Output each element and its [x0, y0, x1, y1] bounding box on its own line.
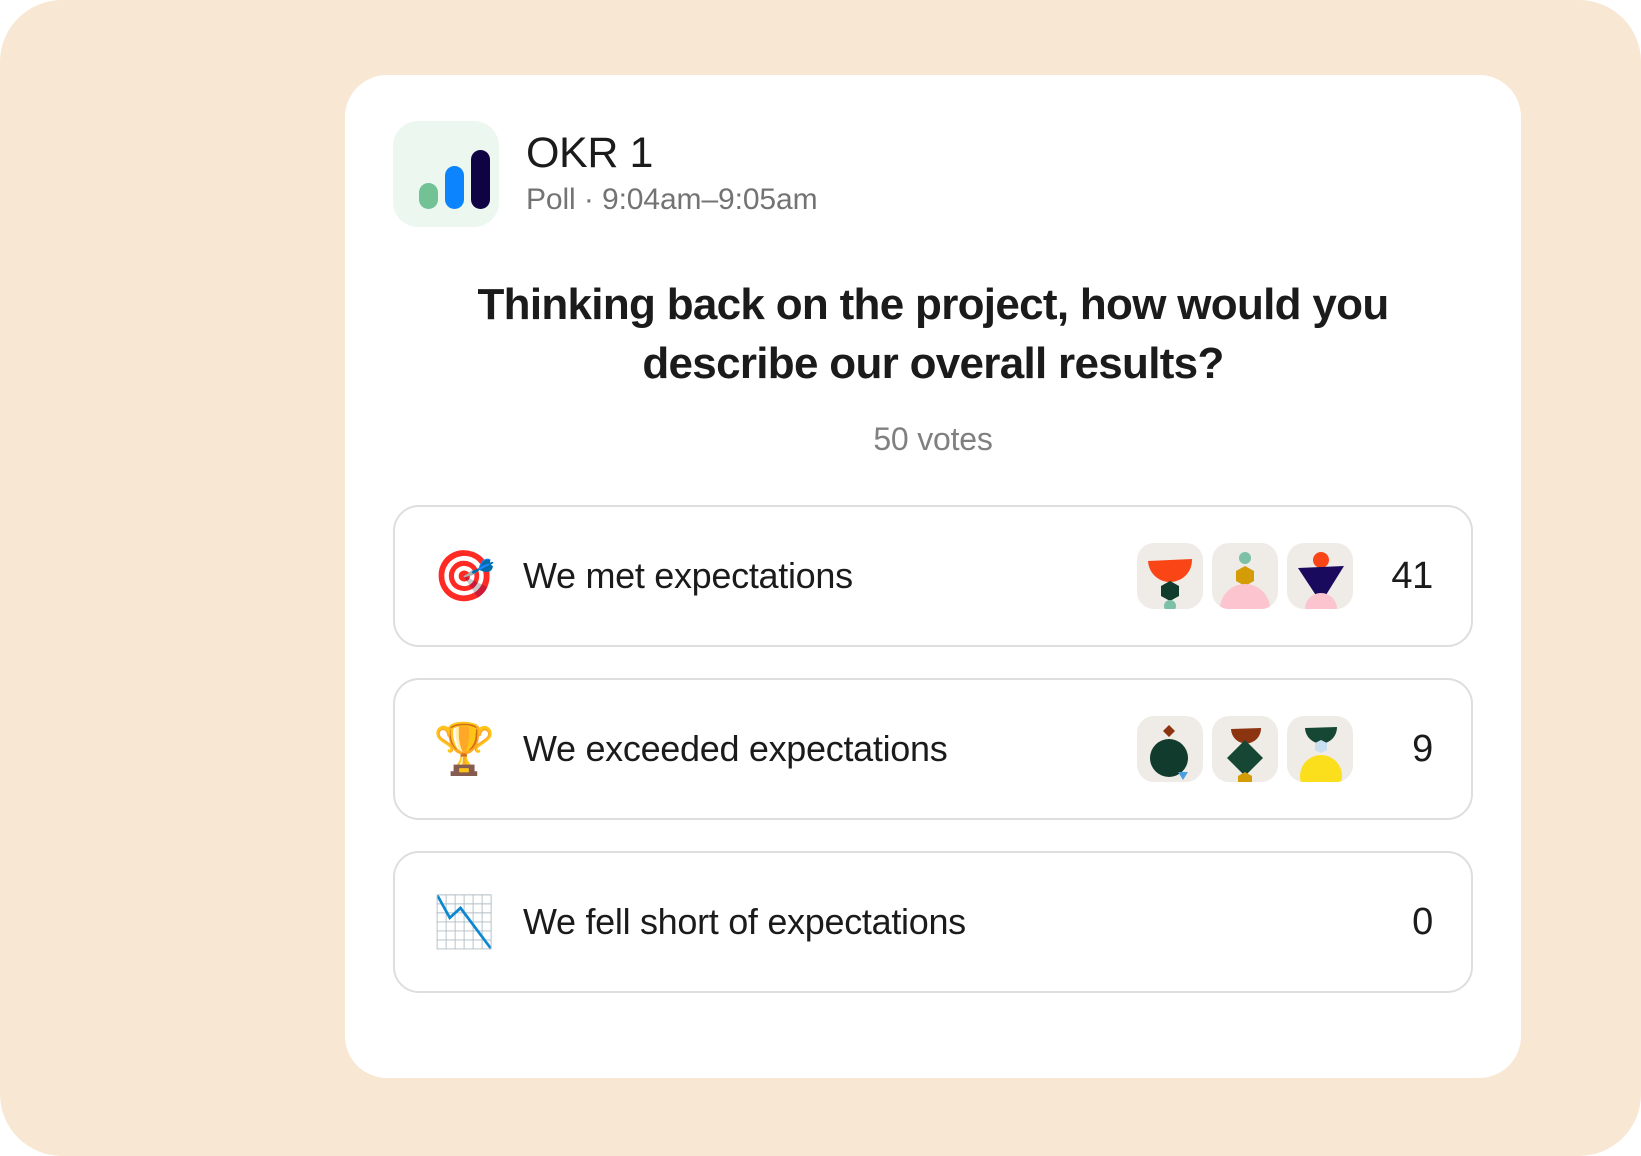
poll-option-label: We met expectations — [523, 554, 1137, 598]
page-title: OKR 1 — [526, 128, 818, 178]
poll-option-count: 9 — [1379, 727, 1433, 771]
poll-option-count: 0 — [1379, 900, 1433, 944]
bar-chart-icon — [393, 121, 499, 227]
trophy-emoji: 🏆 — [433, 724, 495, 774]
avatar-navy-triangle[interactable] — [1287, 543, 1353, 609]
avatar-yellow-circle[interactable] — [1287, 716, 1353, 782]
dart-target-emoji: 🎯 — [433, 551, 495, 601]
poll-option-label: We exceeded expectations — [523, 727, 1137, 771]
avatar-gold-hexagon[interactable] — [1212, 543, 1278, 609]
header-text-group: OKR 1 Poll · 9:04am–9:05am — [526, 128, 818, 220]
poll-question: Thinking back on the project, how would … — [393, 275, 1473, 393]
poll-meta-subtitle: Poll · 9:04am–9:05am — [526, 182, 818, 218]
poll-option-row[interactable]: 📉 We fell short of expectations 0 — [393, 851, 1473, 993]
voter-avatar-group[interactable] — [1137, 543, 1353, 609]
avatar-green-diamond[interactable] — [1212, 716, 1278, 782]
screenshot-stage: OKR 1 Poll · 9:04am–9:05am Thinking back… — [0, 0, 1641, 1156]
poll-result-card: OKR 1 Poll · 9:04am–9:05am Thinking back… — [345, 75, 1521, 1078]
poll-option-label: We fell short of expectations — [523, 900, 1379, 944]
card-header: OKR 1 Poll · 9:04am–9:05am — [393, 120, 1473, 228]
voter-avatar-group[interactable] — [1137, 716, 1353, 782]
poll-option-row[interactable]: 🎯 We met expectations — [393, 505, 1473, 647]
poll-options-list: 🎯 We met expectations — [393, 505, 1473, 993]
poll-option-row[interactable]: 🏆 We exceeded expectations — [393, 678, 1473, 820]
avatar-green-circle[interactable] — [1137, 716, 1203, 782]
avatar-orange-bowl[interactable] — [1137, 543, 1203, 609]
chart-decreasing-emoji: 📉 — [433, 897, 495, 947]
poll-option-count: 41 — [1379, 554, 1433, 598]
vote-total-label: 50 votes — [393, 420, 1473, 458]
